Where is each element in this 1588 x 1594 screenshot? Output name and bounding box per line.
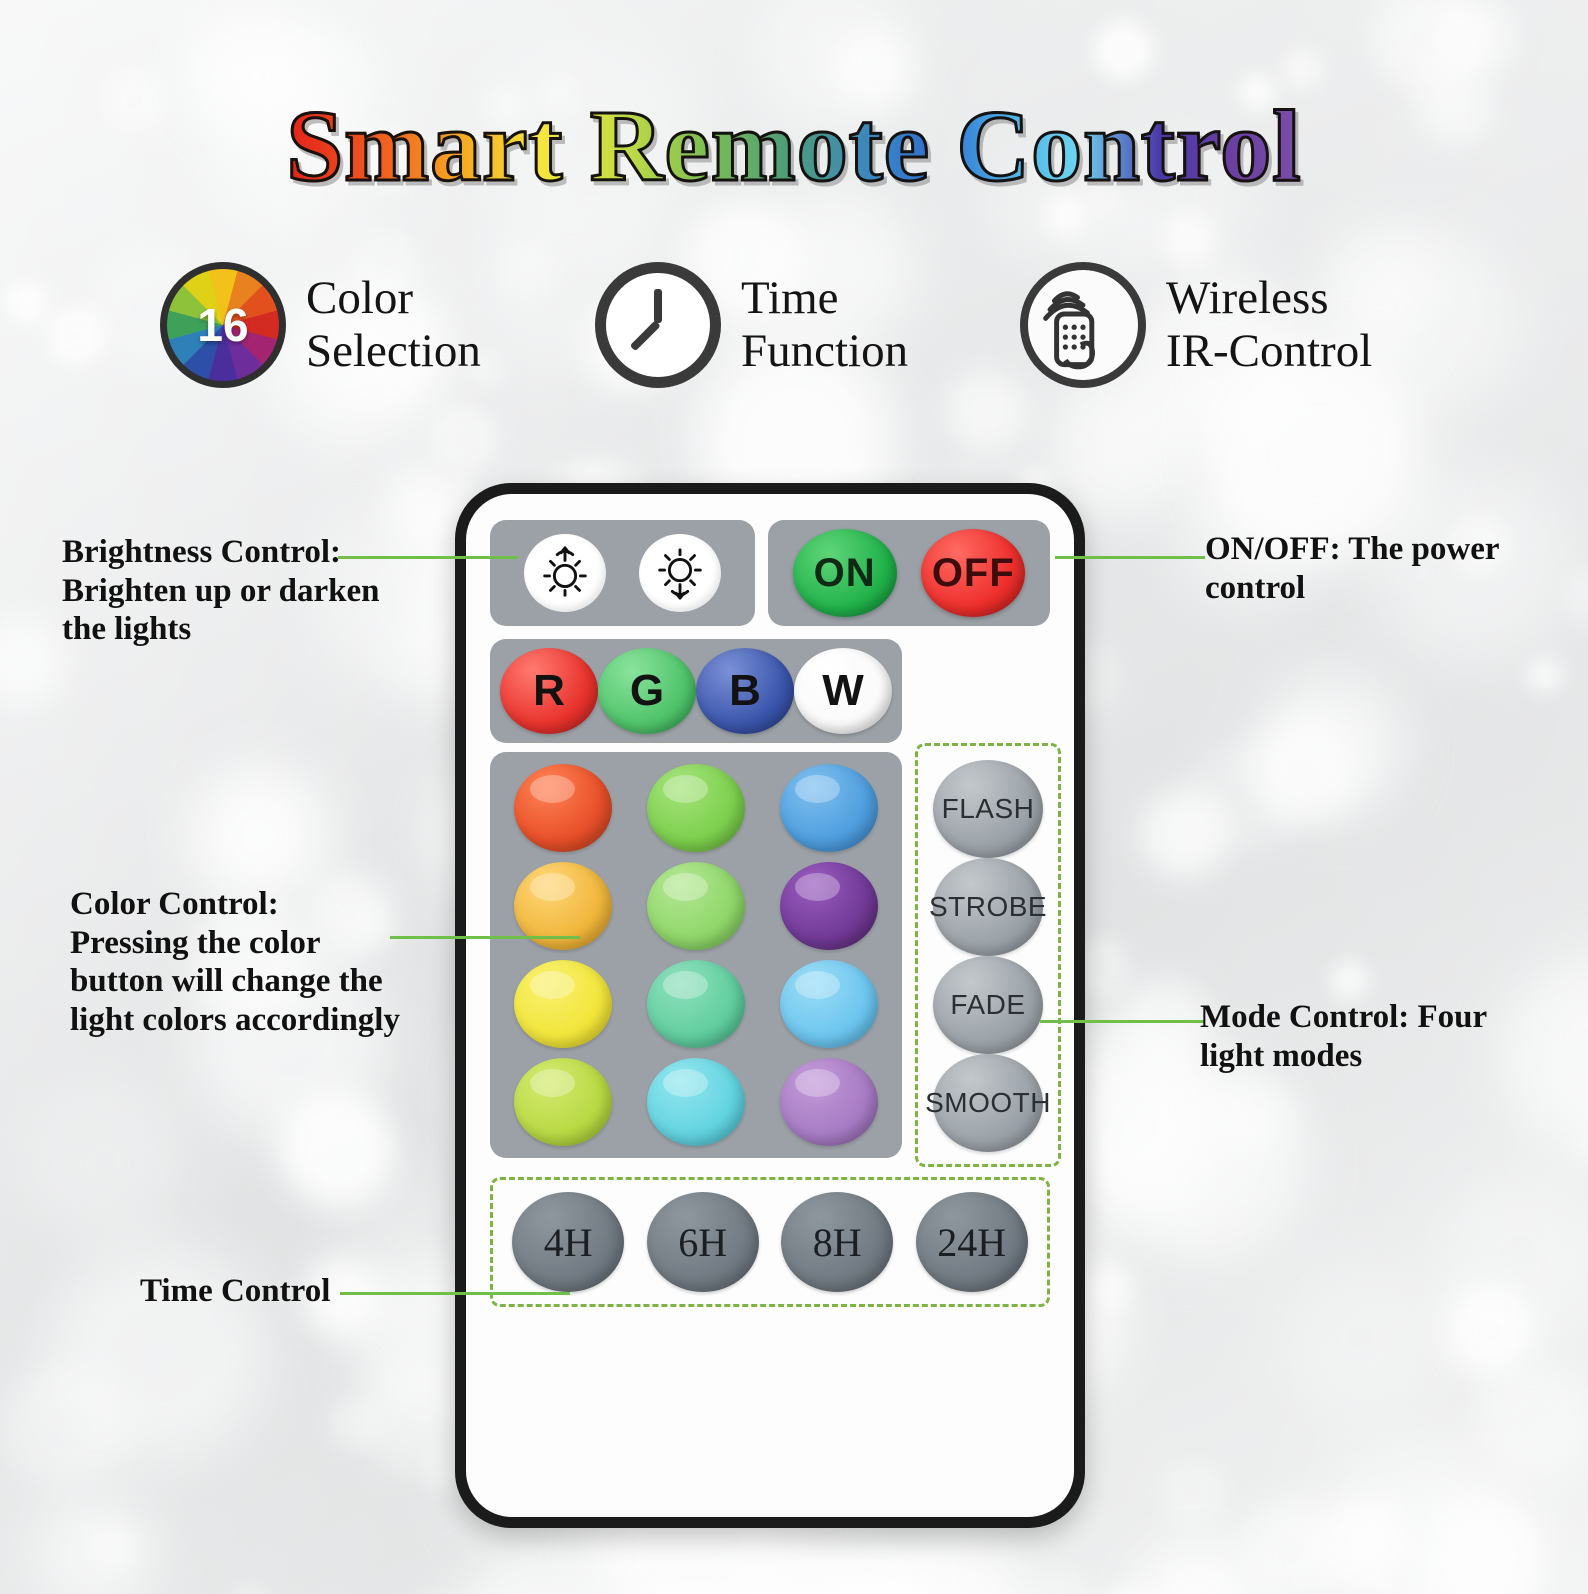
mode-button-strobe[interactable]: STROBE	[933, 858, 1043, 956]
color-button-r3c3[interactable]	[780, 960, 878, 1048]
feature-wireless-ir: Wireless IR-Control	[1020, 262, 1372, 388]
brightness-panel	[490, 520, 755, 626]
color-button-r4c1[interactable]	[514, 1058, 612, 1146]
leader-line-power	[1055, 556, 1205, 559]
timer-button-4h[interactable]: 4H	[512, 1192, 624, 1292]
color-count-badge: 16	[167, 269, 279, 381]
color-button-r4c2[interactable]	[647, 1058, 745, 1146]
timer-button-row: 4H 6H 8H 24H	[490, 1177, 1050, 1307]
mode-button-column: FLASH STROBE FADE SMOOTH	[915, 743, 1061, 1167]
brightness-down-button[interactable]	[639, 534, 721, 612]
feature-time-function: Time Function	[595, 262, 908, 388]
remote-control-device: ON OFF R G B W	[455, 483, 1085, 1528]
rgbw-button-b[interactable]: B	[696, 648, 794, 734]
page-title-text: Smart Remote Control	[286, 90, 1301, 203]
mode-button-smooth[interactable]: SMOOTH	[933, 1054, 1043, 1152]
top-button-row: ON OFF	[490, 520, 1050, 626]
feature-row: 16 Color Selection Time Function	[0, 262, 1588, 422]
color-button-r4c3[interactable]	[780, 1058, 878, 1146]
timer-button-8h[interactable]: 8H	[781, 1192, 893, 1292]
rgbw-button-r[interactable]: R	[500, 648, 598, 734]
brightness-up-button[interactable]	[524, 534, 606, 612]
feature-color-line1: Color	[306, 272, 481, 325]
color-wheel-icon: 16	[160, 262, 286, 388]
clock-minute-hand	[630, 320, 661, 351]
annotation-time: Time Control	[140, 1272, 440, 1311]
leader-line-color	[390, 936, 580, 939]
wireless-remote-icon	[1020, 262, 1146, 388]
power-on-button[interactable]: ON	[793, 529, 897, 617]
rgbw-button-w[interactable]: W	[794, 648, 892, 734]
color-button-r3c2[interactable]	[647, 960, 745, 1048]
rgbw-panel: R G B W	[490, 639, 902, 743]
feature-time-label: Time Function	[741, 272, 908, 377]
color-button-r2c2[interactable]	[647, 862, 745, 950]
annotation-brightness: Brightness Control: Brighten up or darke…	[62, 533, 412, 649]
power-off-button[interactable]: OFF	[921, 529, 1025, 617]
feature-wireless-line2: IR-Control	[1166, 325, 1372, 378]
feature-color-selection: 16 Color Selection	[160, 262, 481, 388]
mode-button-fade[interactable]: FADE	[933, 956, 1043, 1054]
feature-color-label: Color Selection	[306, 272, 481, 377]
remote-face: ON OFF R G B W	[466, 494, 1074, 1517]
timer-button-6h[interactable]: 6H	[647, 1192, 759, 1292]
color-button-r3c1[interactable]	[514, 960, 612, 1048]
color-button-r1c1[interactable]	[514, 764, 612, 852]
clock-icon	[595, 262, 721, 388]
mode-button-flash[interactable]: FLASH	[933, 760, 1043, 858]
color-column: R G B W	[490, 639, 902, 1167]
timer-button-24h[interactable]: 24H	[916, 1192, 1028, 1292]
middle-section: R G B W	[490, 639, 1050, 1167]
feature-color-line2: Selection	[306, 325, 481, 378]
color-grid-panel	[490, 752, 902, 1158]
page-title: Smart Remote Control	[0, 96, 1588, 198]
feature-wireless-label: Wireless IR-Control	[1166, 272, 1372, 377]
feature-time-line1: Time	[741, 272, 908, 325]
annotation-mode: Mode Control: Four light modes	[1200, 998, 1530, 1075]
color-button-r1c3[interactable]	[780, 764, 878, 852]
power-panel: ON OFF	[768, 520, 1050, 626]
annotation-power: ON/OFF: The power control	[1205, 530, 1535, 607]
feature-time-line2: Function	[741, 325, 908, 378]
feature-wireless-line1: Wireless	[1166, 272, 1372, 325]
clock-hour-hand	[654, 289, 662, 323]
color-button-r1c2[interactable]	[647, 764, 745, 852]
color-button-r2c3[interactable]	[780, 862, 878, 950]
rgbw-button-g[interactable]: G	[598, 648, 696, 734]
annotation-color: Color Control: Pressing the color button…	[70, 885, 400, 1039]
leader-line-mode	[1040, 1020, 1205, 1023]
